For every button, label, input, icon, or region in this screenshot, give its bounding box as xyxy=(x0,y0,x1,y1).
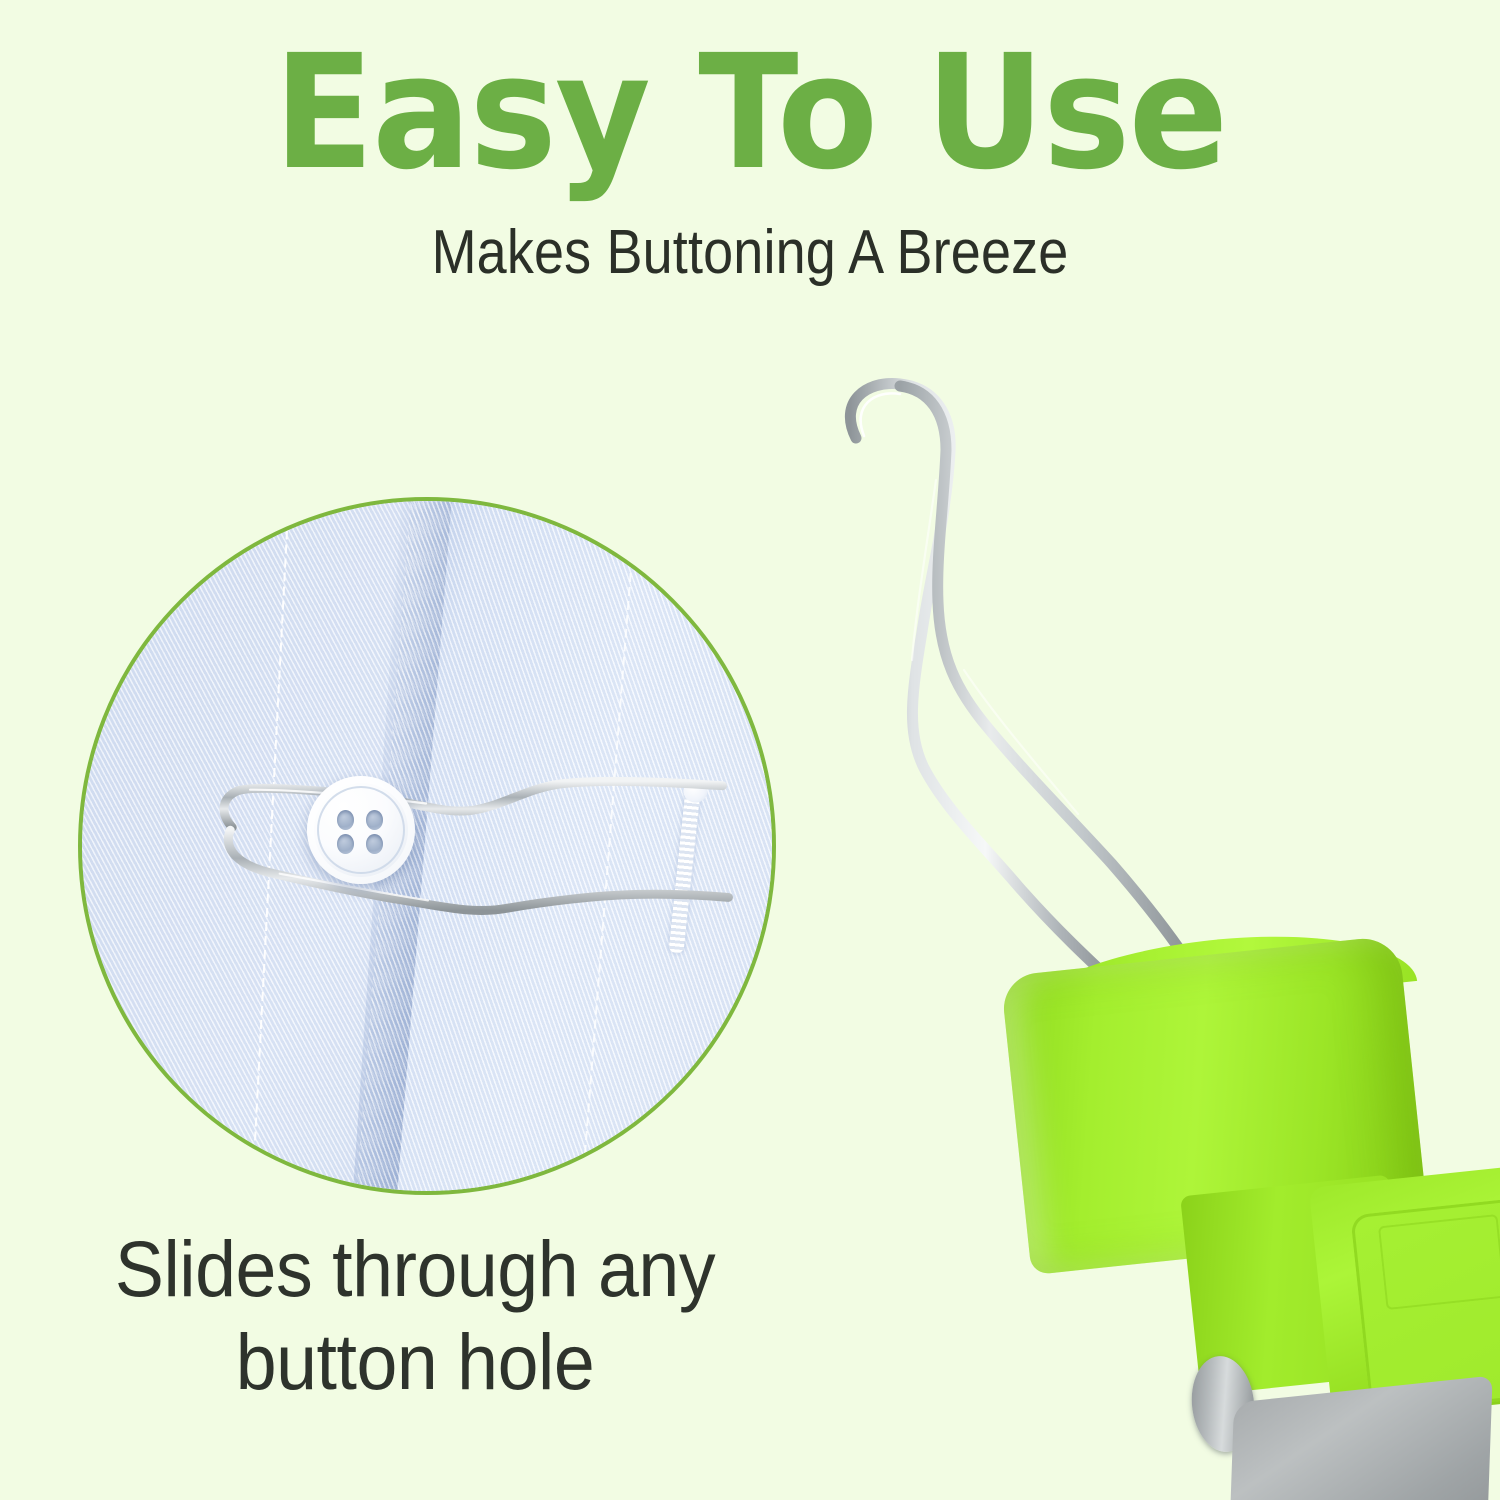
button-hole-4 xyxy=(366,834,383,854)
shirt-button-photo-circle xyxy=(78,497,776,1195)
handle-head-top-face xyxy=(1013,919,1417,1022)
photo-clip xyxy=(82,501,772,1191)
product-feature-banner: Easy To Use Makes Buttoning A Breeze xyxy=(0,0,1500,1500)
gray-grip-insert xyxy=(1227,1376,1492,1500)
shirt-placket-right xyxy=(391,501,772,1191)
button-hook-tool xyxy=(760,340,1500,1500)
button-hole-3 xyxy=(337,834,354,854)
shirt-button xyxy=(307,776,415,884)
button-hole-1 xyxy=(337,810,354,830)
caption-line-2: button hole xyxy=(48,1315,783,1408)
handle-head xyxy=(1000,935,1429,1275)
button-hole-2 xyxy=(366,810,383,830)
handle-rivet xyxy=(1187,1353,1259,1455)
page-subtitle: Makes Buttoning A Breeze xyxy=(98,222,1403,284)
caption-line-1: Slides through any xyxy=(48,1222,783,1315)
feature-caption: Slides through any button hole xyxy=(48,1222,783,1408)
handle-grip-dots xyxy=(1497,1238,1500,1423)
handle-neck xyxy=(1180,1175,1410,1396)
button-rim xyxy=(317,786,405,874)
wire-loop-icon xyxy=(760,340,1500,1500)
handle-grip-pad xyxy=(1350,1189,1500,1414)
page-title: Easy To Use xyxy=(53,34,1448,192)
handle-grip-emboss xyxy=(1378,1214,1500,1310)
handle-shaft xyxy=(1309,1153,1500,1421)
